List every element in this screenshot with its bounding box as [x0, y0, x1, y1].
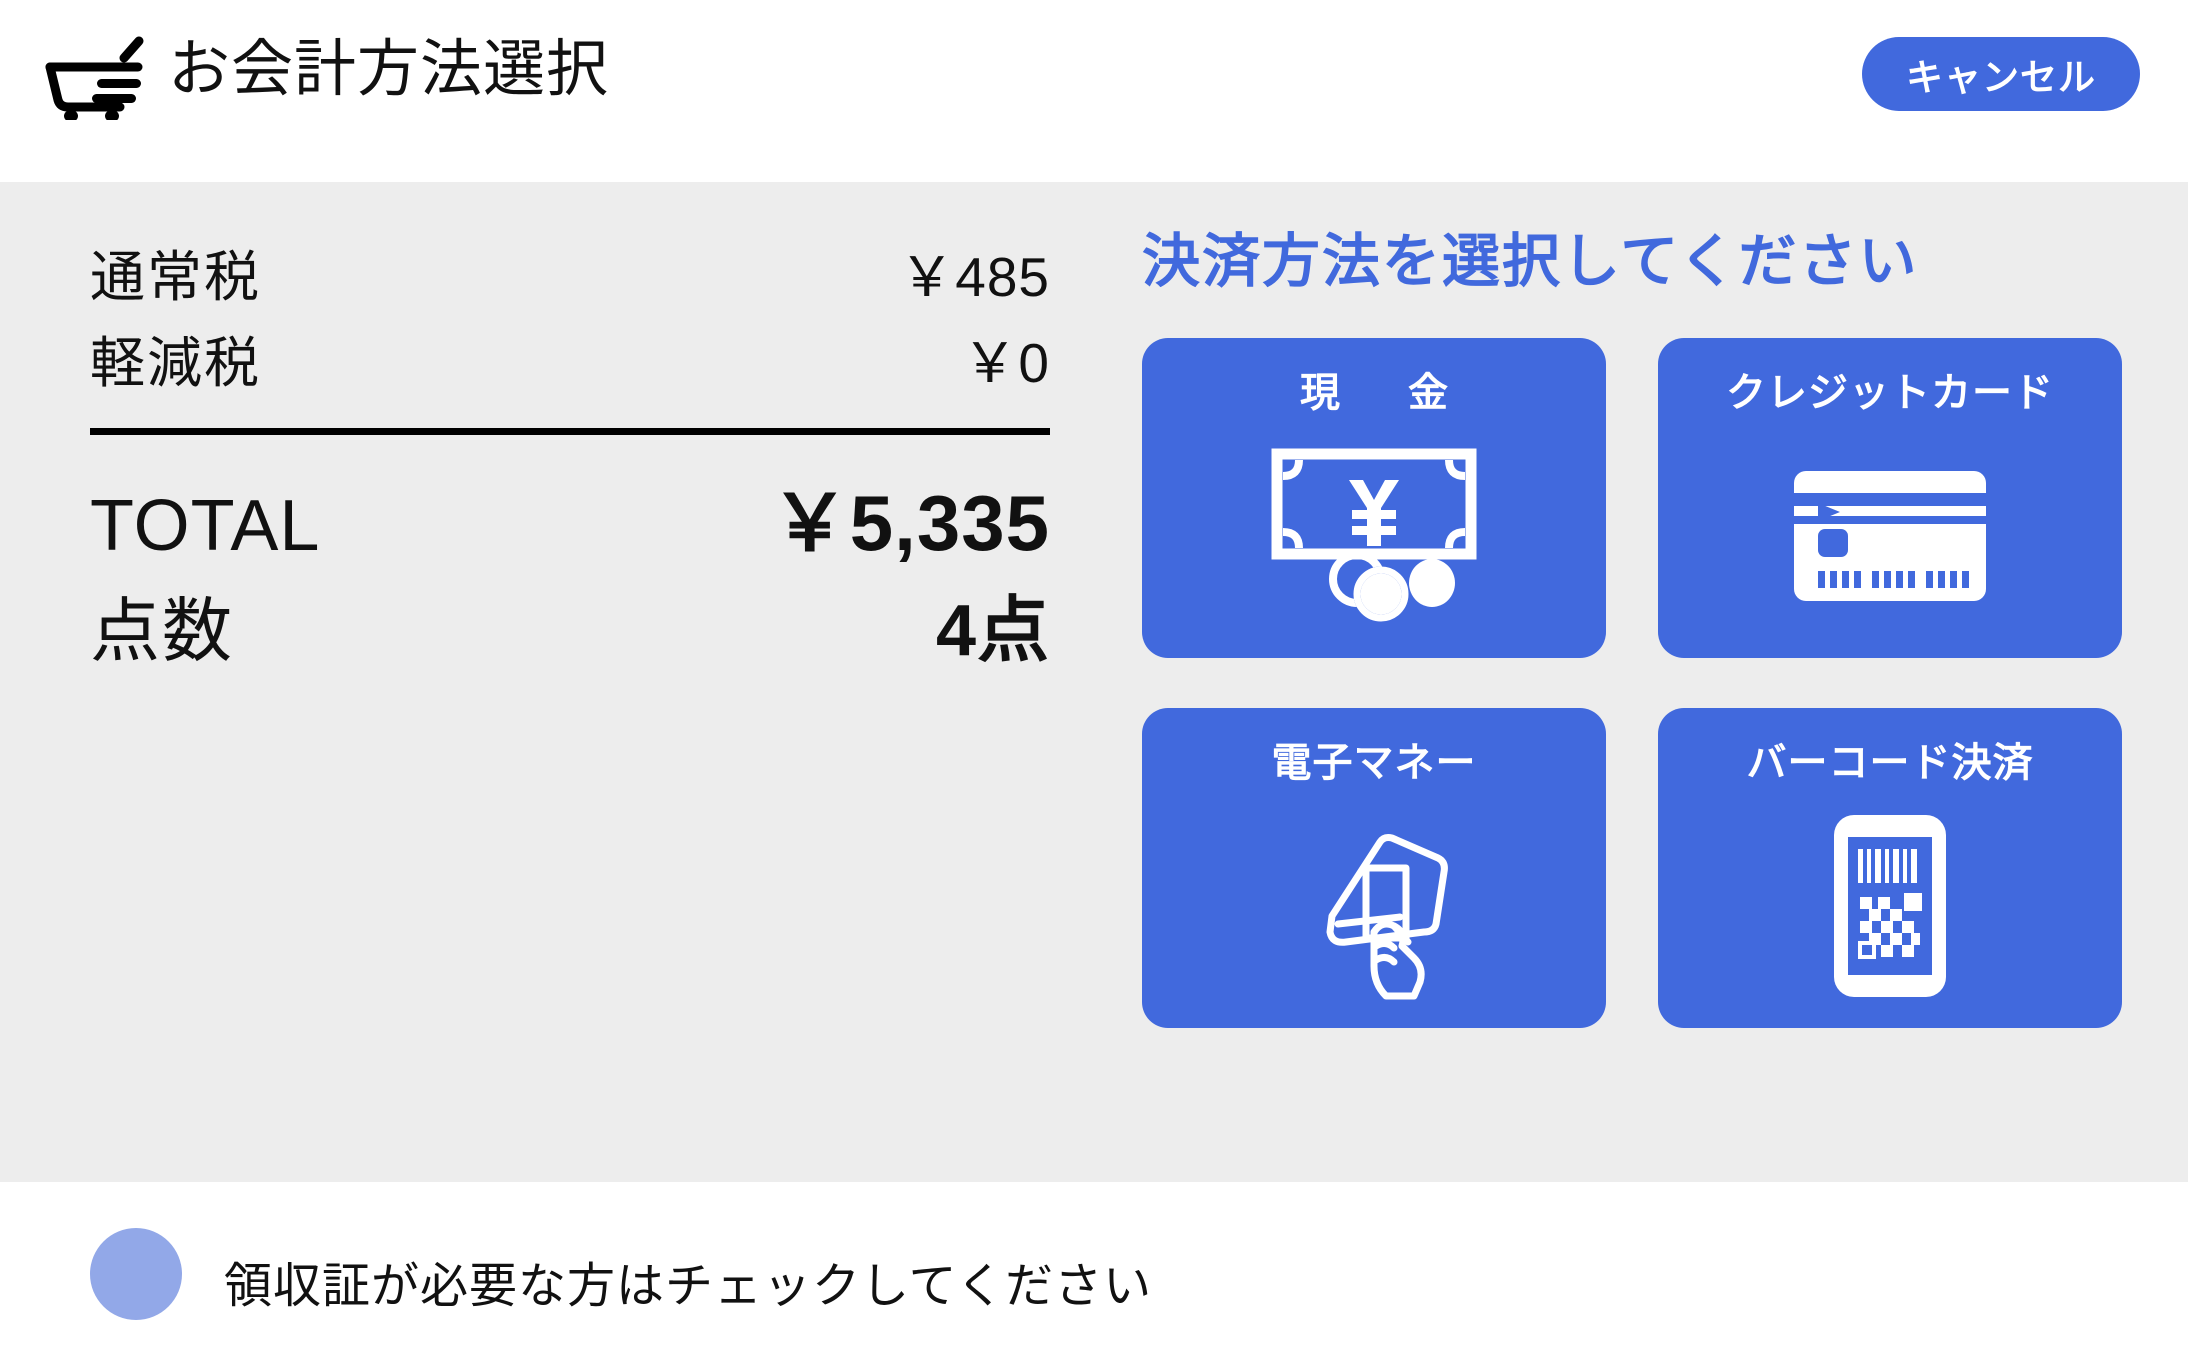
payment-tile-barcode[interactable]: バーコード決済: [1658, 708, 2122, 1028]
payment-tile-grid: 現 金: [1142, 338, 2122, 1028]
tax-reduced-value: ￥0: [962, 318, 1050, 398]
grand-total-label: TOTAL: [90, 485, 320, 567]
tax-reduced-label: 軽減税: [90, 318, 261, 398]
payment-tile-emoney-label: 電子マネー: [1142, 730, 1606, 788]
tax-standard-value: ￥485: [899, 232, 1050, 312]
payment-tile-credit-card-label: クレジットカード: [1658, 360, 2122, 418]
totals-divider: [90, 428, 1050, 435]
shopping-cart-icon: [42, 34, 146, 120]
item-count-value: 4点: [936, 571, 1050, 676]
tax-standard-label: 通常税: [90, 232, 261, 312]
banknote-coins-icon: [1142, 424, 1606, 648]
grand-total-value: ￥5,335: [771, 461, 1050, 573]
footer-bar: 領収証が必要な方はチェックしてください: [0, 1182, 2188, 1368]
item-count-label: 点数: [90, 575, 234, 676]
receipt-required-checkbox[interactable]: [90, 1228, 182, 1320]
tax-row-standard: 通常税 ￥485: [90, 232, 1050, 318]
payment-method-screen: お会計方法選択 キャンセル 通常税 ￥485 軽減税 ￥0 TOTAL ￥5,3…: [0, 0, 2188, 1368]
grand-total-row: TOTAL ￥5,335: [90, 461, 1050, 571]
app-header: お会計方法選択 キャンセル: [0, 0, 2188, 182]
content-panel: 通常税 ￥485 軽減税 ￥0 TOTAL ￥5,335 点数 4点 決済方法を…: [0, 182, 2188, 1182]
payment-tile-cash[interactable]: 現 金: [1142, 338, 1606, 658]
payment-tile-emoney[interactable]: 電子マネー: [1142, 708, 1606, 1028]
payment-tile-cash-label: 現 金: [1142, 360, 1606, 418]
payment-heading: 決済方法を選択してください: [1142, 230, 2122, 294]
item-count-row: 点数 4点: [90, 571, 1050, 676]
credit-card-icon: [1658, 424, 2122, 648]
receipt-required-label: 領収証が必要な方はチェックしてください: [224, 1246, 1152, 1316]
tax-row-reduced: 軽減税 ￥0: [90, 318, 1050, 404]
contactless-reader-hand-icon: [1142, 794, 1606, 1018]
page-title: お会計方法選択: [168, 36, 609, 104]
payment-tile-credit-card[interactable]: クレジットカード: [1658, 338, 2122, 658]
payment-method-area: 決済方法を選択してください 現 金: [1142, 230, 2122, 1028]
totals-summary: 通常税 ￥485 軽減税 ￥0 TOTAL ￥5,335 点数 4点: [90, 232, 1050, 676]
payment-tile-barcode-label: バーコード決済: [1658, 730, 2122, 788]
cancel-button[interactable]: キャンセル: [1862, 37, 2140, 111]
smartphone-barcode-qr-icon: [1658, 794, 2122, 1018]
